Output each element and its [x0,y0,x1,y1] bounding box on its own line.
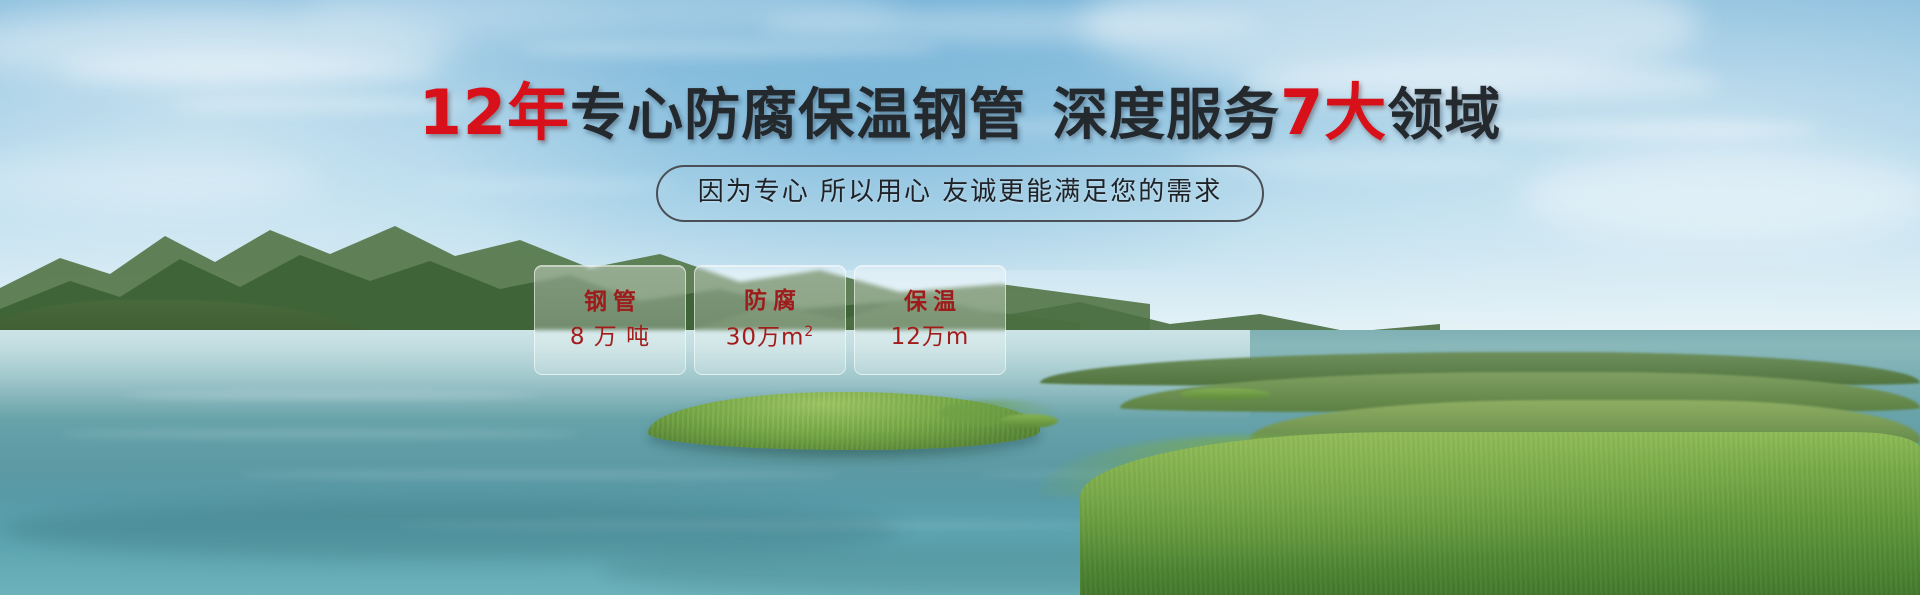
stat-card-insulation[interactable]: 保温 12万m [854,265,1006,375]
stat-card-label: 防腐 [738,290,802,313]
headline-service: 深度服务 [1052,83,1280,148]
headline-fields-count: 7大 [1280,76,1387,149]
stat-card-value: 12万m [891,326,970,349]
headline: 12年专心防腐保温钢管深度服务7大领域 [0,82,1920,144]
headline-fields: 领域 [1387,83,1501,148]
stat-card-label: 钢管 [578,291,642,314]
hero-banner: 12年专心防腐保温钢管深度服务7大领域 因为专心 所以用心 友诚更能满足您的需求… [0,0,1920,595]
stat-card-value-text: 30万m [726,325,805,351]
stat-card-value: 30万m2 [726,325,815,350]
stat-card-value: 8 万 吨 [570,326,650,349]
subtitle-pill: 因为专心 所以用心 友诚更能满足您的需求 [656,165,1265,222]
stat-card-steel-pipe[interactable]: 钢管 8 万 吨 [534,265,686,375]
stat-card-value-superscript: 2 [804,324,814,340]
headline-main: 专心防腐保温钢管 [570,83,1026,148]
stat-card-label: 保温 [898,291,962,314]
subtitle-container: 因为专心 所以用心 友诚更能满足您的需求 [0,165,1920,222]
headline-years: 12年 [419,76,570,149]
stat-card-group: 钢管 8 万 吨 防腐 30万m2 保温 12万m [534,265,1006,375]
stat-card-anticorrosion[interactable]: 防腐 30万m2 [694,265,846,375]
banner-content: 12年专心防腐保温钢管深度服务7大领域 因为专心 所以用心 友诚更能满足您的需求… [0,0,1920,595]
